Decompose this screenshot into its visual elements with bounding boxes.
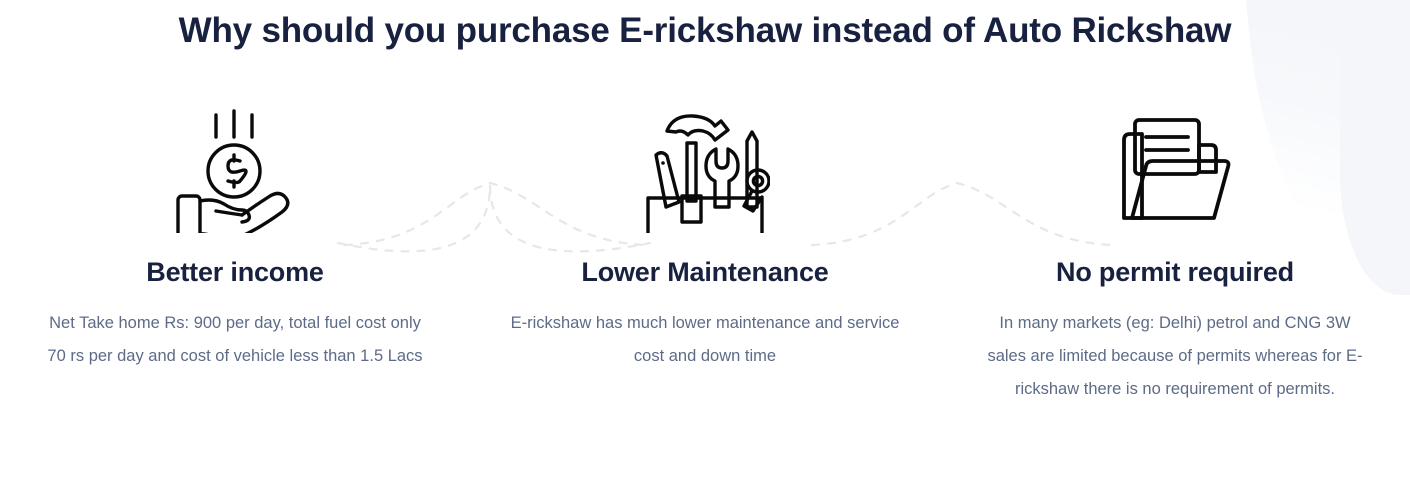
card-title: Better income — [146, 257, 323, 288]
card-body: E-rickshaw has much lower maintenance an… — [510, 307, 900, 373]
benefit-card-lower-maintenance: Lower Maintenance E-rickshaw has much lo… — [470, 103, 940, 406]
benefits-section: Why should you purchase E-rickshaw inste… — [0, 0, 1410, 492]
folder-document-icon — [1110, 103, 1240, 233]
benefit-cards-row: Better income Net Take home Rs: 900 per … — [0, 103, 1410, 406]
benefit-card-no-permit: No permit required In many markets (eg: … — [940, 103, 1410, 406]
toolbox-icon — [640, 103, 770, 233]
card-title: Lower Maintenance — [581, 257, 828, 288]
card-title: No permit required — [1056, 257, 1294, 288]
benefit-card-better-income: Better income Net Take home Rs: 900 per … — [0, 103, 470, 406]
card-body: Net Take home Rs: 900 per day, total fue… — [40, 307, 430, 373]
page-title: Why should you purchase E-rickshaw inste… — [0, 0, 1410, 51]
hand-holding-coin-icon — [170, 103, 300, 233]
card-body: In many markets (eg: Delhi) petrol and C… — [980, 307, 1370, 406]
